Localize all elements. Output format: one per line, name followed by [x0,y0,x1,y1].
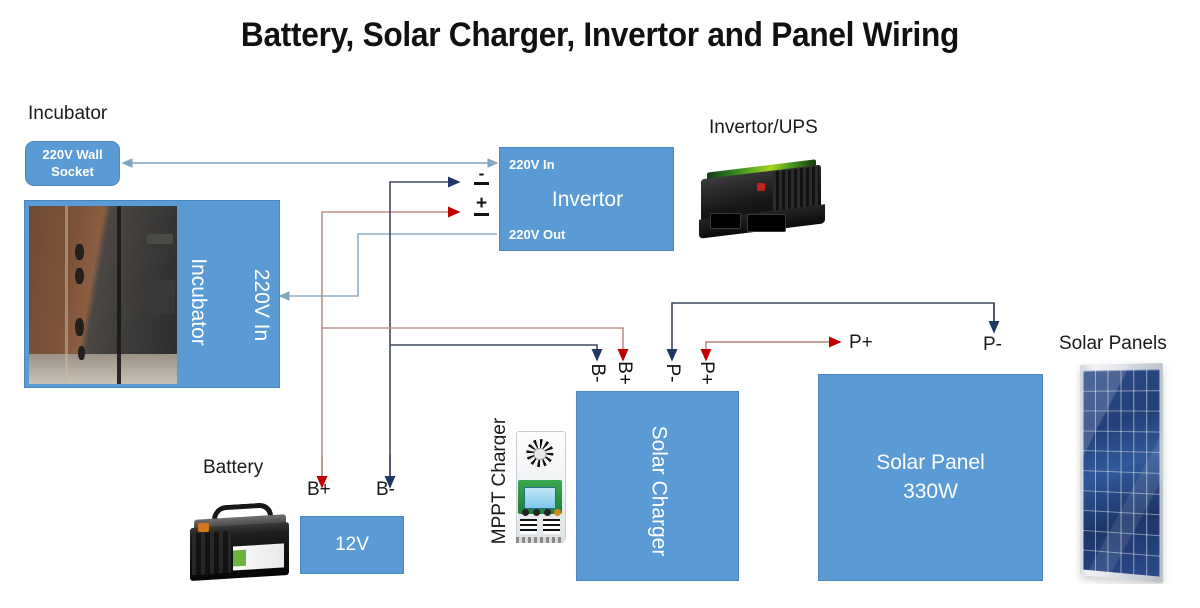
incubator-box[interactable]: Incubator 220V In [24,200,280,388]
solar-charger-box[interactable]: Solar Charger [576,391,739,581]
invertor-220v-in-port: 220V In [509,157,555,172]
incubator-220v-in-label: 220V In [249,245,273,365]
diagram-canvas: Battery, Solar Charger, Invertor and Pan… [0,0,1200,608]
battery-heading: Battery [203,457,263,479]
panel-p-plus-label: P+ [849,332,873,354]
invertor-minus-symbol: - [474,170,489,178]
wall-socket-line1: 220V Wall [42,147,102,163]
wire-battery-minus-to-charger-bminus [390,345,597,360]
wall-socket-box[interactable]: 220V Wall Socket [25,141,120,186]
panel-p-minus-label: P- [983,334,1002,356]
solar-panel-line1: Solar Panel [876,449,985,477]
invertor-box[interactable]: 220V In Invertor 220V Out [499,147,674,251]
battery-12v-box[interactable]: 12V [300,516,404,574]
invertor-box-label: Invertor [500,188,675,212]
wall-socket-line2: Socket [51,164,94,180]
solar-panel-line2: 330W [903,478,958,506]
battery-photo [182,497,297,589]
battery-12v-label: 12V [335,534,369,556]
invertor-minus-terminal: - [474,170,489,185]
invertor-ups-heading: Invertor/UPS [709,117,818,139]
battery-minus-label: B- [376,479,395,501]
incubator-port-wrap: 220V In [201,243,321,363]
invertor-plus-symbol: + [474,198,489,210]
invertor-ups-photo [690,143,833,254]
invertor-220v-out-port: 220V Out [509,227,565,242]
mppt-charger-photo [506,425,574,545]
solar-charger-box-label: Solar Charger [647,410,671,573]
battery-plus-label: B+ [307,479,331,501]
solar-panel-box[interactable]: Solar Panel 330W [818,374,1043,581]
solar-charger-label-wrap: Solar Charger [577,417,740,557]
invertor-plus-terminal: + [474,198,489,216]
solar-panel-photo [1065,360,1177,584]
solar-panels-heading: Solar Panels [1059,333,1167,355]
incubator-heading: Incubator [28,103,107,125]
